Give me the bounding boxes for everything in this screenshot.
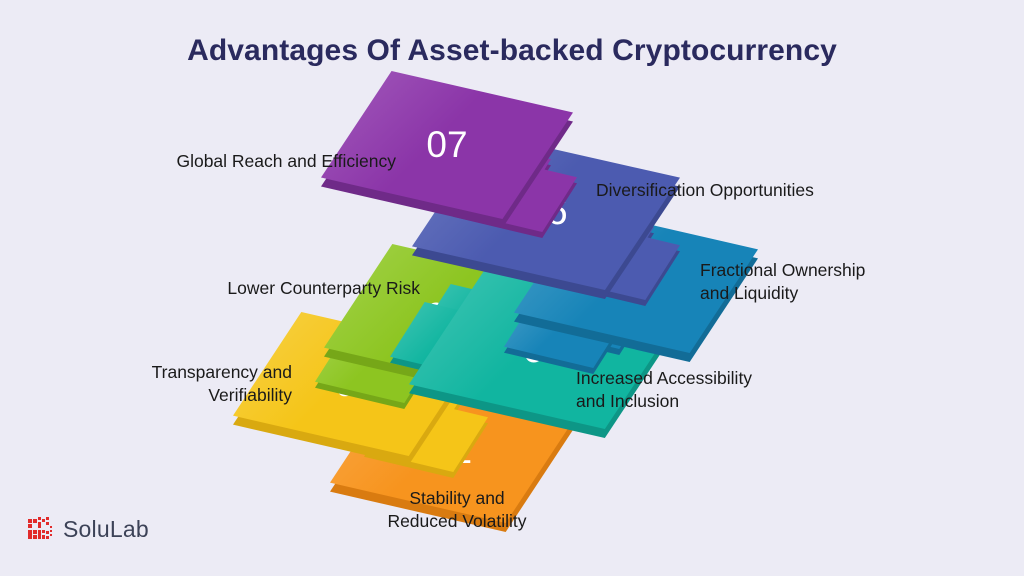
brand-name: SoluLab — [63, 516, 149, 543]
step-label-03: Lower Counterparty Risk — [120, 277, 420, 300]
step-label-05: Fractional Ownership and Liquidity — [700, 259, 940, 305]
infographic-canvas: Advantages Of Asset-backed Cryptocurrenc… — [0, 0, 1024, 576]
page-title: Advantages Of Asset-backed Cryptocurrenc… — [0, 34, 1024, 68]
solulab-pixel-mark-icon — [28, 517, 54, 543]
step-label-01: Stability and Reduced Volatility — [346, 487, 568, 533]
step-label-06: Diversification Opportunities — [596, 179, 926, 202]
step-tile-07: 07 — [321, 71, 573, 219]
step-label-02: Transparency and Verifiability — [86, 361, 292, 407]
brand-logo: SoluLab — [28, 516, 149, 543]
step-label-04: Increased Accessibility and Inclusion — [576, 367, 836, 413]
step-label-07: Global Reach and Efficiency — [104, 150, 396, 173]
